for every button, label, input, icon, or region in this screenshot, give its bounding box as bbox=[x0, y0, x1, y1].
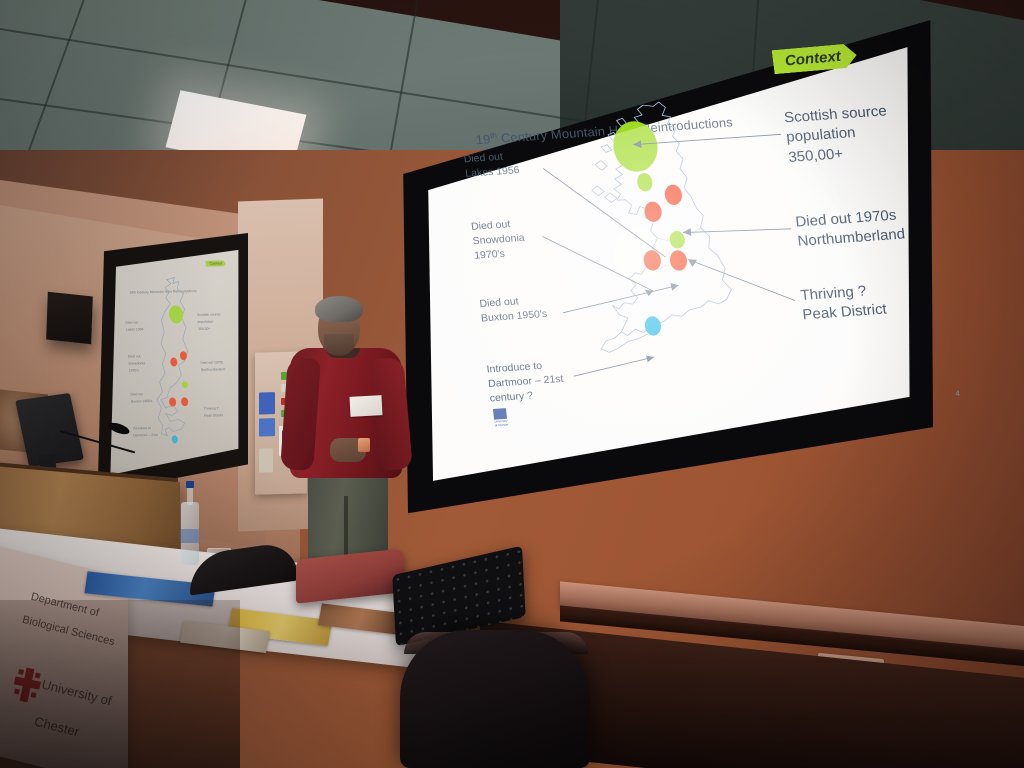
uk-map bbox=[566, 89, 787, 392]
slide-content: Context 19th Century Mountain Hare Reint… bbox=[430, 17, 973, 457]
presentation-clicker bbox=[358, 438, 370, 452]
slide-number: 4 bbox=[955, 389, 960, 398]
university-logo-icon: University of Chester bbox=[493, 408, 509, 426]
label-line: Lakes 1956 bbox=[465, 164, 521, 182]
notice-item bbox=[259, 392, 275, 414]
label-line: Buxton 1950's bbox=[480, 307, 548, 326]
chair-foreground bbox=[400, 630, 590, 768]
mini-marker-northumberland bbox=[180, 351, 188, 360]
logo-caption: University of Chester bbox=[494, 420, 509, 428]
bottle-cap bbox=[186, 481, 194, 488]
bottle-label bbox=[181, 529, 199, 543]
label-line: 1970's bbox=[474, 246, 527, 264]
mini-slide-content: Context 19th Century Mountain Hare Reint… bbox=[115, 256, 255, 459]
bottle-neck bbox=[187, 485, 193, 505]
label-scottish-source: Scottish source population 350,00+ bbox=[783, 102, 892, 168]
wall-speaker-icon bbox=[46, 292, 93, 345]
label-buxton: Died out Buxton 1950's bbox=[479, 293, 548, 327]
water-bottle bbox=[181, 485, 199, 565]
mini-marker-dartmoor bbox=[171, 435, 178, 443]
mini-marker-peak bbox=[182, 381, 188, 388]
label-dartmoor: Introduce to Dartmoor – 21st century ? bbox=[486, 358, 566, 407]
conference-room-scene: Context 19th Century Mountain Hare Reint… bbox=[0, 0, 1024, 768]
mini-marker-snowdonia bbox=[169, 397, 177, 406]
slide-title-number: 19 bbox=[475, 132, 491, 147]
notice-item bbox=[259, 418, 275, 436]
label-snowdonia: Died out Snowdonia 1970's bbox=[470, 217, 527, 265]
label-lakes: Died out Lakes 1956 bbox=[463, 149, 520, 182]
context-badge: Context bbox=[772, 43, 859, 74]
label-northumberland: Died out 1970s Northumberland bbox=[795, 206, 907, 253]
presenter bbox=[286, 296, 416, 564]
presenter-beard bbox=[324, 334, 354, 356]
mini-marker-buxton bbox=[181, 397, 189, 406]
presenter-hair bbox=[315, 296, 363, 322]
main-projection-screen[interactable]: Context 19th Century Mountain Hare Reint… bbox=[400, 20, 933, 542]
logo-mark bbox=[493, 408, 507, 420]
presenter-leg-split bbox=[344, 496, 348, 561]
notice-item bbox=[259, 448, 273, 472]
foreground-shadow bbox=[0, 600, 240, 768]
mini-marker-lakes bbox=[170, 357, 178, 366]
secondary-projection-screen[interactable]: Context 19th Century Mountain Hare Reint… bbox=[88, 233, 248, 493]
label-peak-district: Thriving ? Peak District bbox=[799, 281, 887, 326]
presenter-name-badge bbox=[349, 395, 382, 417]
